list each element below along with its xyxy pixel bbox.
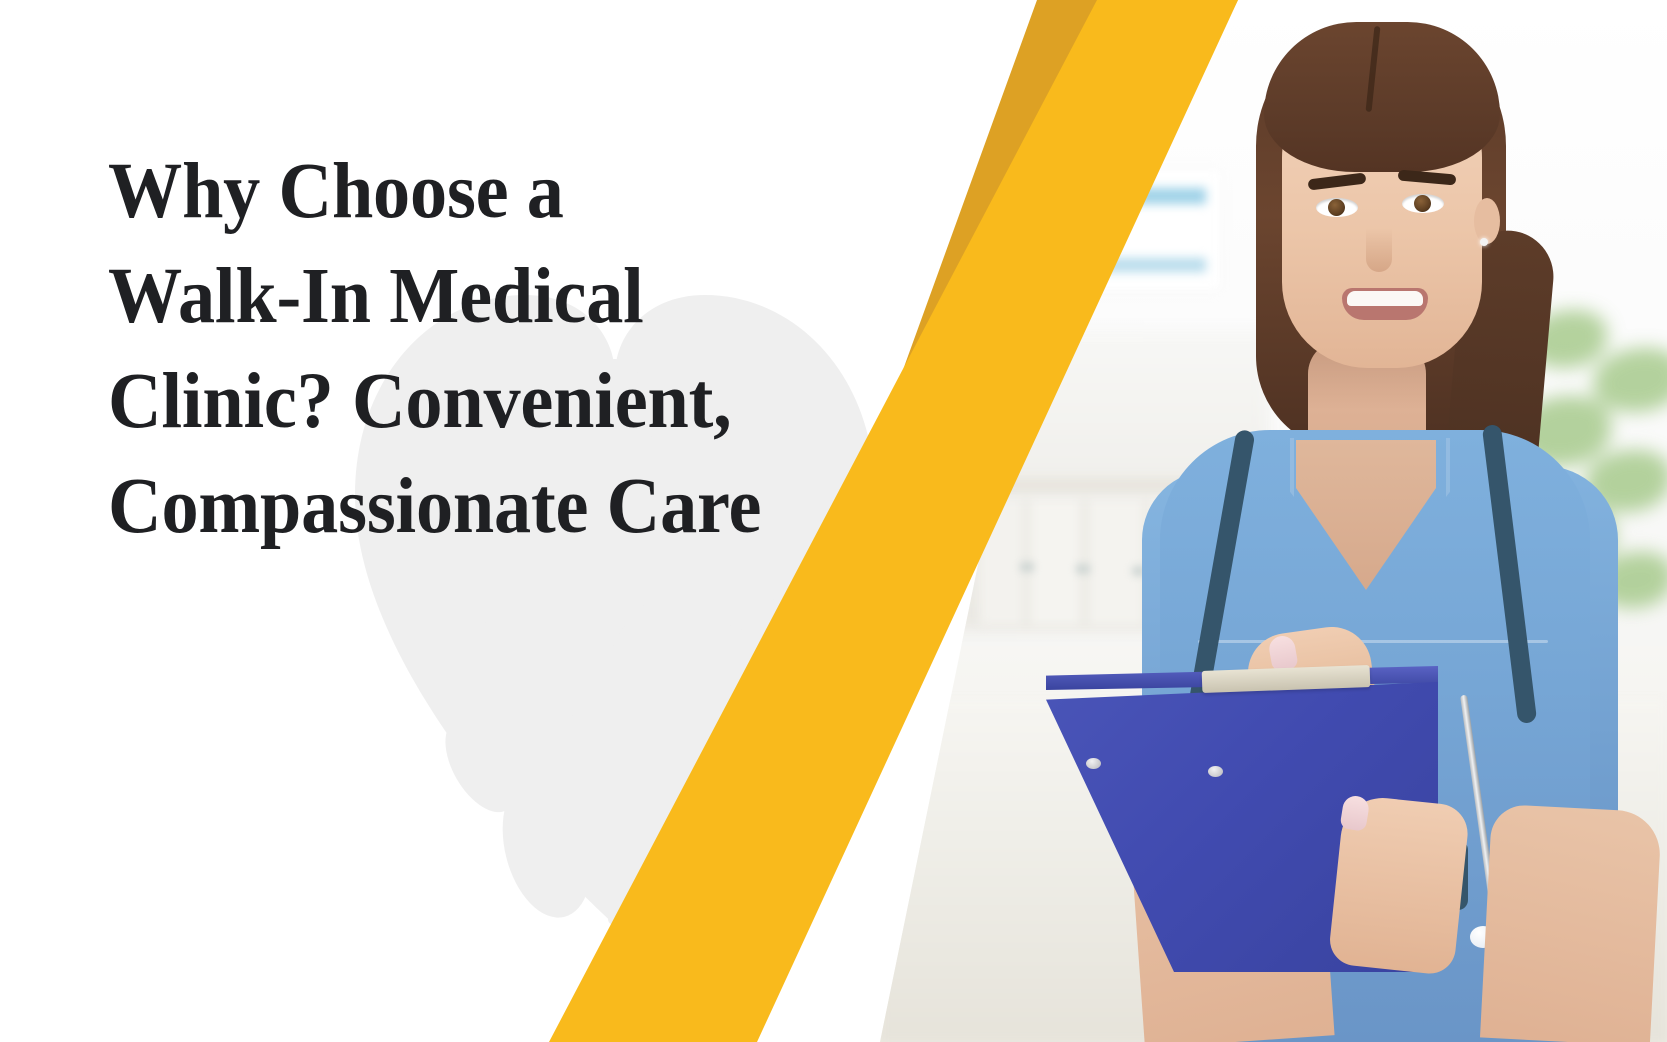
hair-front bbox=[1264, 22, 1500, 172]
nose bbox=[1366, 228, 1392, 272]
ear bbox=[1474, 198, 1500, 244]
binder-label-dot bbox=[1020, 562, 1034, 572]
clipboard-rivet bbox=[1086, 758, 1101, 769]
smiling-mouth bbox=[1342, 288, 1428, 320]
nurse-photo bbox=[880, 0, 1667, 1042]
nurse-photo-panel bbox=[880, 0, 1667, 1042]
clipboard-rivet bbox=[1208, 766, 1223, 777]
teeth bbox=[1347, 291, 1423, 306]
page-title: Why Choose a Walk-In Medical Clinic? Con… bbox=[108, 139, 851, 559]
iris-right bbox=[1414, 195, 1431, 212]
stethoscope-tube-right bbox=[1482, 424, 1537, 724]
blog-hero-banner: Why Choose a Walk-In Medical Clinic? Con… bbox=[0, 0, 1667, 1042]
nurse-figure bbox=[1050, 0, 1667, 1042]
earring bbox=[1480, 238, 1488, 246]
arm-right bbox=[1480, 804, 1662, 1042]
iris-left bbox=[1328, 199, 1345, 216]
